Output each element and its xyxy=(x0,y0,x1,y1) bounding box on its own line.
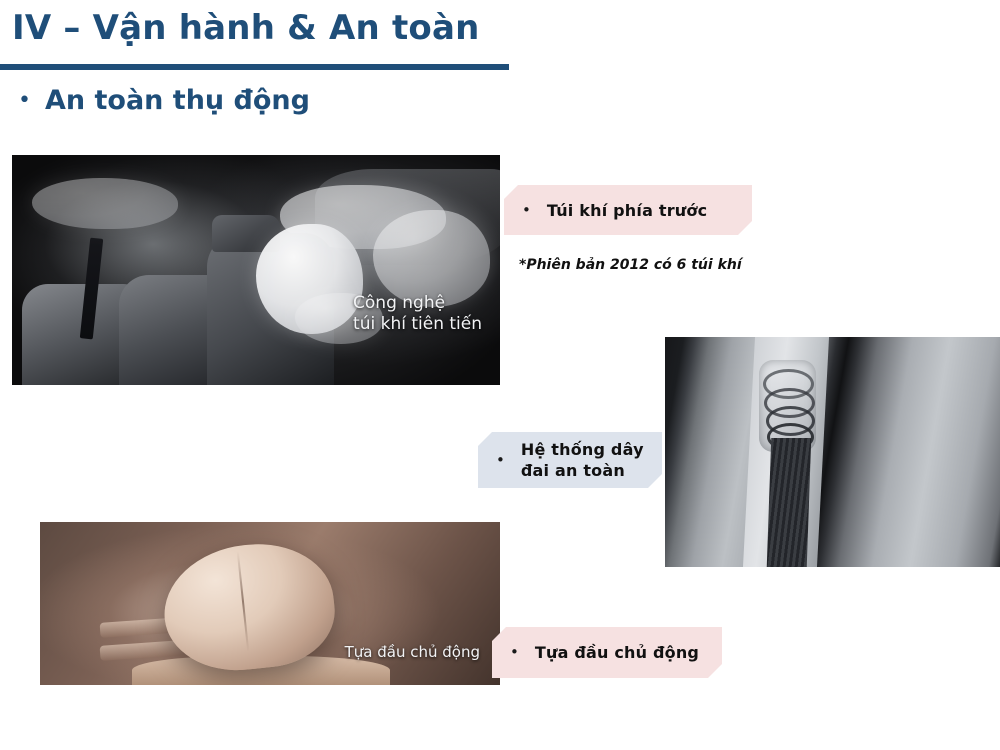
callout-label-seatbelt-system: Hệ thống dây đai an toàn xyxy=(521,439,644,481)
photo-caption-headrest: Tựa đầu chủ động xyxy=(345,642,480,663)
photo-airbag-interior: Công nghệ túi khí tiên tiến xyxy=(12,155,500,385)
callout-seatbelt-system[interactable]: • Hệ thống dây đai an toàn xyxy=(478,432,662,488)
subtitle-bullet-icon: • xyxy=(18,83,31,119)
cabin-illustration xyxy=(12,155,500,385)
callout-bullet-icon: • xyxy=(522,203,531,218)
callout-active-headrest[interactable]: • Tựa đầu chủ động xyxy=(492,627,722,678)
subtitle-row: • An toàn thụ động xyxy=(18,83,310,119)
pillar-background xyxy=(665,337,1000,567)
seatbelt-webbing xyxy=(767,438,812,567)
slide: IV – Vận hành & An toàn • An toàn thụ độ… xyxy=(0,0,1000,750)
callout-bullet-icon: • xyxy=(496,453,505,468)
callout-front-airbags[interactable]: • Túi khí phía trước xyxy=(504,185,752,235)
photo-seatbelt-pillar xyxy=(665,337,1000,567)
callout-label-front-airbags: Túi khí phía trước xyxy=(547,200,707,221)
footnote-airbag-count: *Phiên bản 2012 có 6 túi khí xyxy=(519,257,742,273)
title-underline-rule xyxy=(0,64,509,70)
callout-label-active-headrest: Tựa đầu chủ động xyxy=(535,642,699,663)
page-title: IV – Vận hành & An toàn xyxy=(12,8,480,48)
subtitle-text: An toàn thụ động xyxy=(45,83,310,119)
airbag-curtain-rear xyxy=(32,178,178,229)
photo-caption-airbag: Công nghệ túi khí tiên tiến xyxy=(353,293,482,335)
callout-bullet-icon: • xyxy=(510,645,519,660)
photo-active-headrest: Tựa đầu chủ động xyxy=(40,522,500,685)
